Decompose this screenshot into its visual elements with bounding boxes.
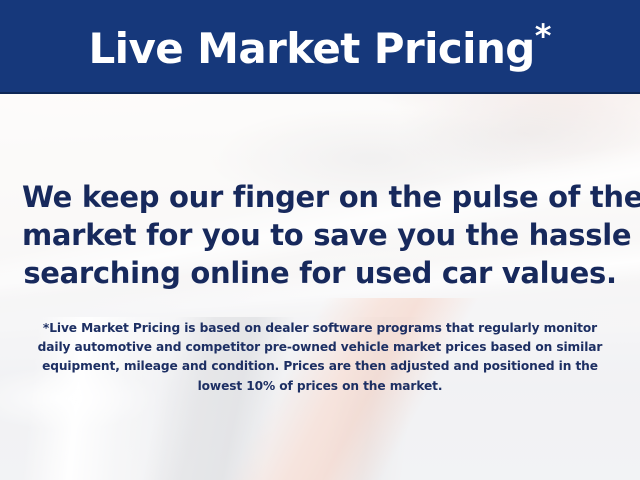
page-title-text: Live Market Pricing <box>89 24 535 73</box>
disclaimer-line-3: equipment, mileage and condition. Prices… <box>24 357 616 376</box>
footnote-marker: * <box>535 17 552 55</box>
disclaimer-line-4: lowest 10% of prices on the market. <box>24 377 616 396</box>
promo-banner: Live Market Pricing* We keep our finger … <box>0 0 640 480</box>
headline: We keep our finger on the pulse of the m… <box>22 178 618 292</box>
disclaimer-line-1: *Live Market Pricing is based on dealer … <box>24 319 616 338</box>
content-area: We keep our finger on the pulse of the m… <box>0 94 640 480</box>
headline-line-2: market for you to save you the hassle of <box>22 216 618 254</box>
page-title: Live Market Pricing* <box>89 20 552 70</box>
headline-line-3: searching online for used car values. <box>22 254 618 292</box>
disclaimer-line-2: daily automotive and competitor pre-owne… <box>24 338 616 357</box>
headline-line-1: We keep our finger on the pulse of the <box>22 178 618 216</box>
header-band: Live Market Pricing* <box>0 0 640 94</box>
disclaimer: *Live Market Pricing is based on dealer … <box>24 319 616 396</box>
